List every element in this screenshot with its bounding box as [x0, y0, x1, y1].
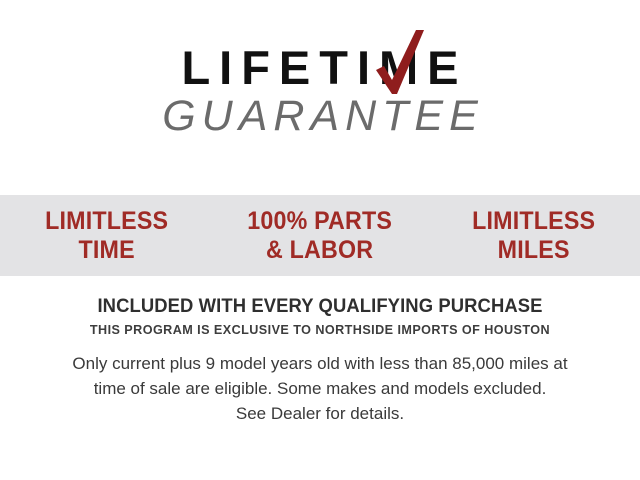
- fineprint-line-1: Only current plus 9 model years old with…: [40, 351, 600, 376]
- logo-guarantee-text: GUARANTEE: [156, 93, 484, 139]
- feature-column-parts-labor: 100% PARTS & LABOR: [221, 207, 419, 265]
- feature-column-limitless-miles: LIMITLESS MILES: [434, 207, 632, 265]
- feature-band: LIMITLESS TIME 100% PARTS & LABOR LIMITL…: [0, 195, 640, 276]
- fineprint-line-3: See Dealer for details.: [40, 401, 600, 426]
- feature-line-2: TIME: [7, 236, 205, 265]
- headline-text: INCLUDED WITH EVERY QUALIFYING PURCHASE: [10, 296, 631, 318]
- logo-lifetime-text: LIFETIME: [156, 44, 484, 92]
- feature-line-2: & LABOR: [221, 236, 419, 265]
- feature-line-2: MILES: [434, 236, 632, 265]
- logo-block: LIFETIME GUARANTEE: [0, 44, 640, 164]
- fineprint-block: Only current plus 9 model years old with…: [40, 351, 600, 426]
- feature-line-1: 100% PARTS: [221, 207, 419, 236]
- lifetime-guarantee-ad: LIFETIME GUARANTEE LIMITLESS TIME 100% P…: [0, 0, 640, 480]
- feature-column-limitless-time: LIMITLESS TIME: [7, 207, 205, 265]
- fineprint-line-2: time of sale are eligible. Some makes an…: [40, 376, 600, 401]
- subhead-text: THIS PROGRAM IS EXCLUSIVE TO NORTHSIDE I…: [10, 321, 631, 338]
- feature-line-1: LIMITLESS: [7, 207, 205, 236]
- feature-line-1: LIMITLESS: [434, 207, 632, 236]
- logo-wordmark: LIFETIME GUARANTEE: [156, 44, 484, 139]
